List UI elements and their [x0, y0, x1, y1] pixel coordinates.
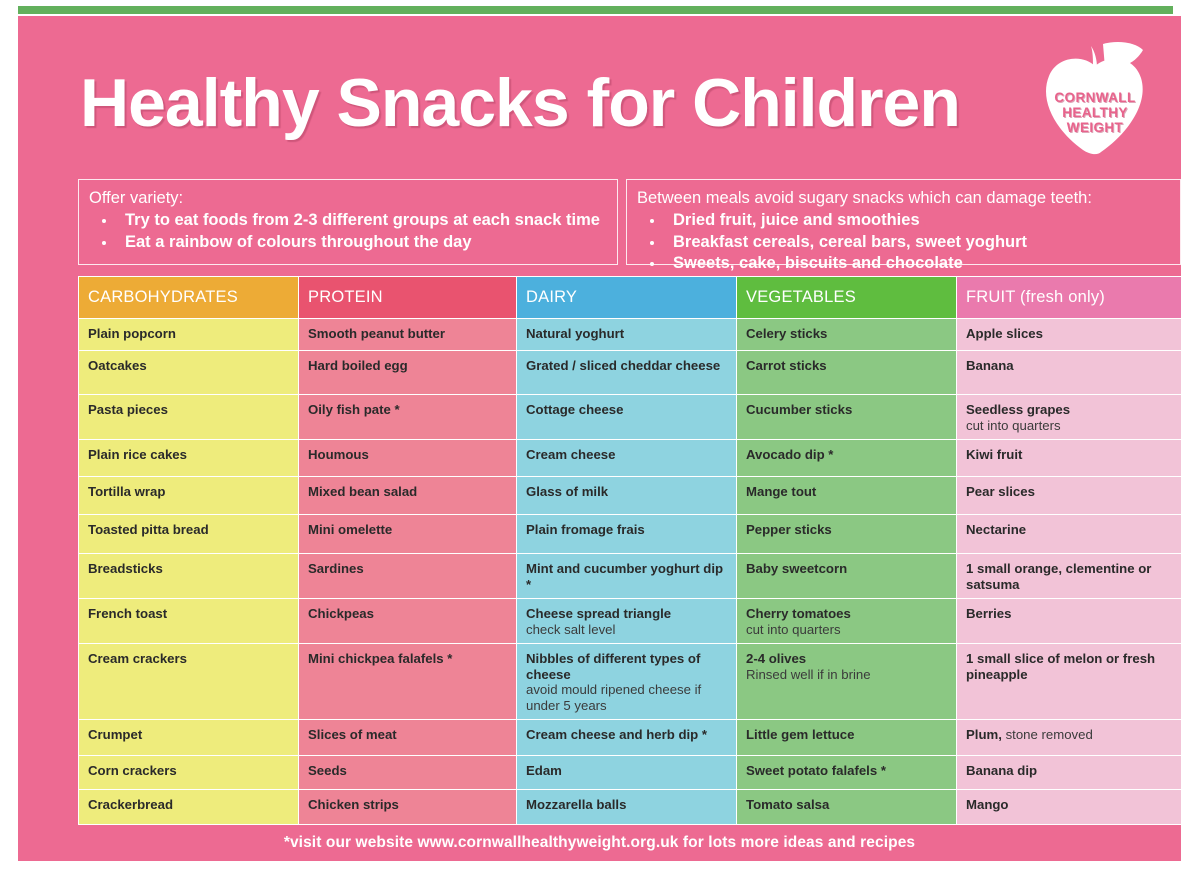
table-cell-carbohydrates: Plain rice cakes: [79, 440, 299, 477]
poster: Healthy Snacks for Children CORNWALL HEA…: [0, 0, 1199, 872]
table-cell-carbohydrates: Breadsticks: [79, 554, 299, 599]
logo-line-3: WEIGHT: [1031, 120, 1159, 135]
table-cell-vegetables: Pepper sticks: [737, 515, 957, 554]
table-cell-protein: Chicken strips: [299, 790, 517, 825]
table-cell-vegetables: Cucumber sticks: [737, 395, 957, 440]
table-cell-carbohydrates: Corn crackers: [79, 756, 299, 790]
cell-note-text: cut into quarters: [966, 418, 1061, 433]
cell-note-text: avoid mould ripened cheese if under 5 ye…: [526, 682, 701, 713]
avoid-sugary-snacks-info-box: Between meals avoid sugary snacks which …: [626, 179, 1181, 265]
cell-main-text: 2-4 olives: [746, 651, 806, 666]
table-cell-vegetables: Celery sticks: [737, 319, 957, 351]
table-cell-vegetables: Baby sweetcorn: [737, 554, 957, 599]
cell-main-text: Mango: [966, 797, 1009, 812]
cell-main-text: Crackerbread: [88, 797, 173, 812]
list-item: Eat a rainbow of colours throughout the …: [89, 232, 607, 254]
table-cell-vegetables: Avocado dip *: [737, 440, 957, 477]
cell-main-text: Tomato salsa: [746, 797, 829, 812]
logo-line-2: HEALTHY: [1031, 105, 1159, 120]
table-cell-protein: Chickpeas: [299, 599, 517, 644]
list-item: Try to eat foods from 2-3 different grou…: [89, 210, 607, 232]
table-head: CARBOHYDRATES PROTEIN DAIRY VEGETABLES F…: [79, 277, 1182, 319]
snack-groups-table-wrapper: CARBOHYDRATES PROTEIN DAIRY VEGETABLES F…: [78, 276, 1181, 816]
cell-main-text: Cucumber sticks: [746, 402, 852, 417]
cell-main-text: Slices of meat: [308, 727, 397, 742]
cell-main-text: Apple slices: [966, 326, 1043, 341]
table-cell-fruit: Apple slices: [957, 319, 1182, 351]
cell-main-text: Crumpet: [88, 727, 142, 742]
table-row: Plain rice cakesHoumousCream cheeseAvoca…: [79, 440, 1182, 477]
table-cell-dairy: Grated / sliced cheddar cheese: [517, 351, 737, 395]
table-row: BreadsticksSardinesMint and cucumber yog…: [79, 554, 1182, 599]
cell-main-text: 1 small slice of melon or fresh pineappl…: [966, 651, 1155, 682]
cell-main-text: Chicken strips: [308, 797, 399, 812]
table-cell-protein: Mixed bean salad: [299, 477, 517, 515]
table-cell-fruit: Banana dip: [957, 756, 1182, 790]
table-cell-dairy: Plain fromage frais: [517, 515, 737, 554]
cell-main-text: Seedless grapes: [966, 402, 1070, 417]
cell-main-text: Celery sticks: [746, 326, 827, 341]
table-cell-protein: Seeds: [299, 756, 517, 790]
cell-main-text: Berries: [966, 606, 1011, 621]
table-cell-protein: Mini chickpea falafels *: [299, 644, 517, 720]
cell-main-text: Houmous: [308, 447, 369, 462]
table-cell-carbohydrates: Plain popcorn: [79, 319, 299, 351]
table-cell-dairy: Glass of milk: [517, 477, 737, 515]
table-row: OatcakesHard boiled eggGrated / sliced c…: [79, 351, 1182, 395]
table-cell-vegetables: Tomato salsa: [737, 790, 957, 825]
list-item: Dried fruit, juice and smoothies: [637, 210, 1170, 232]
snack-groups-table: CARBOHYDRATES PROTEIN DAIRY VEGETABLES F…: [78, 276, 1182, 825]
cell-note-text: check salt level: [526, 622, 615, 637]
cell-main-text: Kiwi fruit: [966, 447, 1022, 462]
table-row: French toastChickpeasCheese spread trian…: [79, 599, 1182, 644]
table-cell-protein: Sardines: [299, 554, 517, 599]
table-cell-protein: Slices of meat: [299, 720, 517, 756]
cell-main-text: Mini chickpea falafels *: [308, 651, 452, 666]
table-row: Tortilla wrapMixed bean saladGlass of mi…: [79, 477, 1182, 515]
cell-note-text: stone removed: [1002, 727, 1093, 742]
table-cell-carbohydrates: Cream crackers: [79, 644, 299, 720]
table-cell-vegetables: Mange tout: [737, 477, 957, 515]
table-cell-protein: Hard boiled egg: [299, 351, 517, 395]
cell-main-text: Banana dip: [966, 763, 1037, 778]
table-cell-dairy: Cottage cheese: [517, 395, 737, 440]
table-cell-vegetables: Little gem lettuce: [737, 720, 957, 756]
table-cell-dairy: Cream cheese: [517, 440, 737, 477]
page-title: Healthy Snacks for Children: [80, 64, 1040, 142]
cell-main-text: Avocado dip *: [746, 447, 833, 462]
cell-main-text: Toasted pitta bread: [88, 522, 209, 537]
cell-main-text: Seeds: [308, 763, 347, 778]
table-row: CrumpetSlices of meatCream cheese and he…: [79, 720, 1182, 756]
table-cell-carbohydrates: Toasted pitta bread: [79, 515, 299, 554]
avoid-sugary-snacks-heading: Between meals avoid sugary snacks which …: [637, 188, 1170, 209]
cell-main-text: Hard boiled egg: [308, 358, 408, 373]
table-cell-dairy: Natural yoghurt: [517, 319, 737, 351]
cell-main-text: Glass of milk: [526, 484, 608, 499]
cell-main-text: Cream cheese and herb dip *: [526, 727, 707, 742]
table-cell-carbohydrates: Pasta pieces: [79, 395, 299, 440]
cell-main-text: Mange tout: [746, 484, 816, 499]
cell-note-text: Rinsed well if in brine: [746, 667, 871, 682]
table-row: Corn crackersSeedsEdamSweet potato falaf…: [79, 756, 1182, 790]
cell-main-text: French toast: [88, 606, 167, 621]
table-cell-vegetables: Cherry tomatoescut into quarters: [737, 599, 957, 644]
cell-main-text: Grated / sliced cheddar cheese: [526, 358, 720, 373]
cell-main-text: Natural yoghurt: [526, 326, 624, 341]
cell-main-text: Plain fromage frais: [526, 522, 645, 537]
table-cell-carbohydrates: Oatcakes: [79, 351, 299, 395]
offer-variety-list: Try to eat foods from 2-3 different grou…: [89, 210, 607, 253]
table-cell-fruit: Mango: [957, 790, 1182, 825]
table-row: Cream crackersMini chickpea falafels *Ni…: [79, 644, 1182, 720]
list-item: Sweets, cake, biscuits and chocolate: [637, 253, 1170, 275]
table-cell-fruit: Plum, stone removed: [957, 720, 1182, 756]
column-header-vegetables: VEGETABLES: [737, 277, 957, 319]
table-cell-dairy: Edam: [517, 756, 737, 790]
cell-main-text: Little gem lettuce: [746, 727, 854, 742]
table-cell-vegetables: Sweet potato falafels *: [737, 756, 957, 790]
cell-main-text: Mozzarella balls: [526, 797, 626, 812]
cell-main-text: Chickpeas: [308, 606, 374, 621]
cell-main-text: Carrot sticks: [746, 358, 827, 373]
cornwall-healthy-weight-apple-logo: CORNWALL HEALTHY WEIGHT: [1031, 38, 1159, 158]
top-green-strip: [18, 6, 1173, 14]
cell-main-text: Mini omelette: [308, 522, 392, 537]
table-cell-dairy: Cream cheese and herb dip *: [517, 720, 737, 756]
logo-line-1: CORNWALL: [1031, 90, 1159, 105]
logo-text-block: CORNWALL HEALTHY WEIGHT: [1031, 90, 1159, 135]
offer-variety-heading: Offer variety:: [89, 188, 607, 209]
column-header-protein: PROTEIN: [299, 277, 517, 319]
table-row: Toasted pitta breadMini omelettePlain fr…: [79, 515, 1182, 554]
cell-main-text: Nectarine: [966, 522, 1026, 537]
table-cell-vegetables: Carrot sticks: [737, 351, 957, 395]
list-item: Breakfast cereals, cereal bars, sweet yo…: [637, 232, 1170, 254]
cell-main-text: Edam: [526, 763, 562, 778]
table-cell-dairy: Cheese spread trianglecheck salt level: [517, 599, 737, 644]
table-row: Pasta piecesOily fish pate *Cottage chee…: [79, 395, 1182, 440]
table-cell-carbohydrates: French toast: [79, 599, 299, 644]
cell-main-text: Plum,: [966, 727, 1002, 742]
cell-main-text: Cream cheese: [526, 447, 615, 462]
column-header-fruit: FRUIT (fresh only): [957, 277, 1182, 319]
table-cell-dairy: Mozzarella balls: [517, 790, 737, 825]
table-cell-protein: Mini omelette: [299, 515, 517, 554]
cell-main-text: Pasta pieces: [88, 402, 168, 417]
table-header-row: CARBOHYDRATES PROTEIN DAIRY VEGETABLES F…: [79, 277, 1182, 319]
cell-main-text: Banana: [966, 358, 1014, 373]
table-cell-protein: Houmous: [299, 440, 517, 477]
table-cell-fruit: 1 small orange, clementine or satsuma: [957, 554, 1182, 599]
table-row: CrackerbreadChicken stripsMozzarella bal…: [79, 790, 1182, 825]
table-cell-fruit: Berries: [957, 599, 1182, 644]
table-cell-fruit: Pear slices: [957, 477, 1182, 515]
cell-main-text: Mixed bean salad: [308, 484, 417, 499]
table-cell-fruit: Seedless grapescut into quarters: [957, 395, 1182, 440]
table-cell-dairy: Mint and cucumber yoghurt dip *: [517, 554, 737, 599]
table-cell-carbohydrates: Tortilla wrap: [79, 477, 299, 515]
cell-main-text: Nibbles of different types of cheese: [526, 651, 700, 682]
table-cell-vegetables: 2-4 olivesRinsed well if in brine: [737, 644, 957, 720]
cell-main-text: Cherry tomatoes: [746, 606, 851, 621]
cell-main-text: Smooth peanut butter: [308, 326, 445, 341]
footer-website-note: *visit our website www.cornwallhealthywe…: [18, 834, 1181, 852]
cell-main-text: Corn crackers: [88, 763, 177, 778]
poster-sheet: Healthy Snacks for Children CORNWALL HEA…: [18, 16, 1181, 861]
table-cell-fruit: Kiwi fruit: [957, 440, 1182, 477]
table-cell-fruit: Nectarine: [957, 515, 1182, 554]
table-cell-protein: Oily fish pate *: [299, 395, 517, 440]
table-cell-fruit: Banana: [957, 351, 1182, 395]
cell-main-text: Plain rice cakes: [88, 447, 187, 462]
column-header-carbohydrates: CARBOHYDRATES: [79, 277, 299, 319]
cell-main-text: Oily fish pate *: [308, 402, 400, 417]
cell-main-text: Sardines: [308, 561, 364, 576]
cell-main-text: Breadsticks: [88, 561, 163, 576]
table-cell-carbohydrates: Crackerbread: [79, 790, 299, 825]
cell-main-text: Tortilla wrap: [88, 484, 165, 499]
cell-main-text: Mint and cucumber yoghurt dip *: [526, 561, 723, 592]
table-cell-fruit: 1 small slice of melon or fresh pineappl…: [957, 644, 1182, 720]
table-row: Plain popcornSmooth peanut butterNatural…: [79, 319, 1182, 351]
table-cell-protein: Smooth peanut butter: [299, 319, 517, 351]
offer-variety-info-box: Offer variety: Try to eat foods from 2-3…: [78, 179, 618, 265]
cell-main-text: Cream crackers: [88, 651, 187, 666]
cell-main-text: Cheese spread triangle: [526, 606, 671, 621]
cell-main-text: Sweet potato falafels *: [746, 763, 886, 778]
avoid-sugary-snacks-list: Dried fruit, juice and smoothies Breakfa…: [637, 210, 1170, 275]
cell-main-text: Plain popcorn: [88, 326, 176, 341]
cell-main-text: Pear slices: [966, 484, 1035, 499]
cell-main-text: Oatcakes: [88, 358, 147, 373]
cell-main-text: Baby sweetcorn: [746, 561, 847, 576]
cell-note-text: cut into quarters: [746, 622, 841, 637]
table-cell-dairy: Nibbles of different types of cheeseavoi…: [517, 644, 737, 720]
cell-main-text: 1 small orange, clementine or satsuma: [966, 561, 1151, 592]
cell-main-text: Cottage cheese: [526, 402, 623, 417]
cell-main-text: Pepper sticks: [746, 522, 832, 537]
column-header-dairy: DAIRY: [517, 277, 737, 319]
table-body: Plain popcornSmooth peanut butterNatural…: [79, 319, 1182, 825]
table-cell-carbohydrates: Crumpet: [79, 720, 299, 756]
